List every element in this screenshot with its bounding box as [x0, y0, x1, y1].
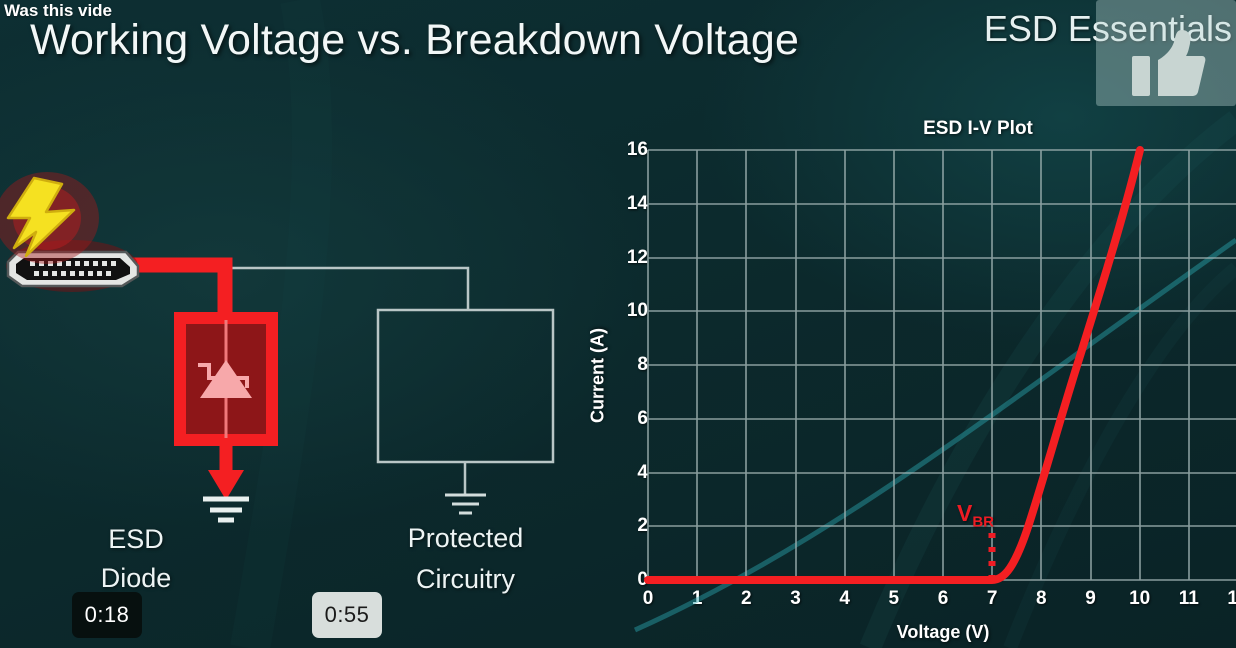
- surge-path-wire: [128, 265, 225, 320]
- vbr-subscript: BR: [972, 514, 994, 531]
- background-swoosh: [635, 240, 1236, 630]
- current-time-badge[interactable]: 0:18: [72, 592, 142, 638]
- breakdown-voltage-label: VBR: [957, 500, 994, 531]
- ground-icon: [445, 495, 486, 513]
- esd-diode-label-line1: ESD: [88, 520, 184, 559]
- esd-ground-connection: [203, 438, 249, 520]
- survey-overlay-card[interactable]: [1096, 0, 1236, 106]
- vbr-symbol: V: [957, 500, 972, 526]
- chart-gridlines: [648, 150, 1236, 580]
- protected-circuitry-label: Protected Circuitry: [378, 518, 553, 599]
- page-title: Working Voltage vs. Breakdown Voltage: [30, 16, 799, 65]
- esd-iv-chart: ESD I-V Plot Current (A) Voltage (V) 024…: [575, 110, 1236, 648]
- signal-wire: [140, 268, 468, 310]
- survey-overlay-text: Was this vide: [4, 1, 112, 21]
- total-time-badge[interactable]: 0:55: [312, 592, 382, 638]
- protected-circuitry-label-line1: Protected: [378, 518, 553, 559]
- circuit-diagram: ESD Diode Protected Circuitry: [0, 170, 600, 560]
- esd-diode-component: [180, 318, 272, 440]
- protected-circuitry-block: [378, 310, 553, 513]
- slide-canvas: Working Voltage vs. Breakdown Voltage ES…: [0, 0, 1236, 648]
- protected-circuitry-label-line2: Circuitry: [378, 559, 553, 600]
- chart-plot-area: [575, 110, 1236, 648]
- esd-diode-label: ESD Diode: [88, 520, 184, 598]
- thumbs-up-icon[interactable]: [1132, 30, 1206, 96]
- ground-icon: [203, 499, 249, 520]
